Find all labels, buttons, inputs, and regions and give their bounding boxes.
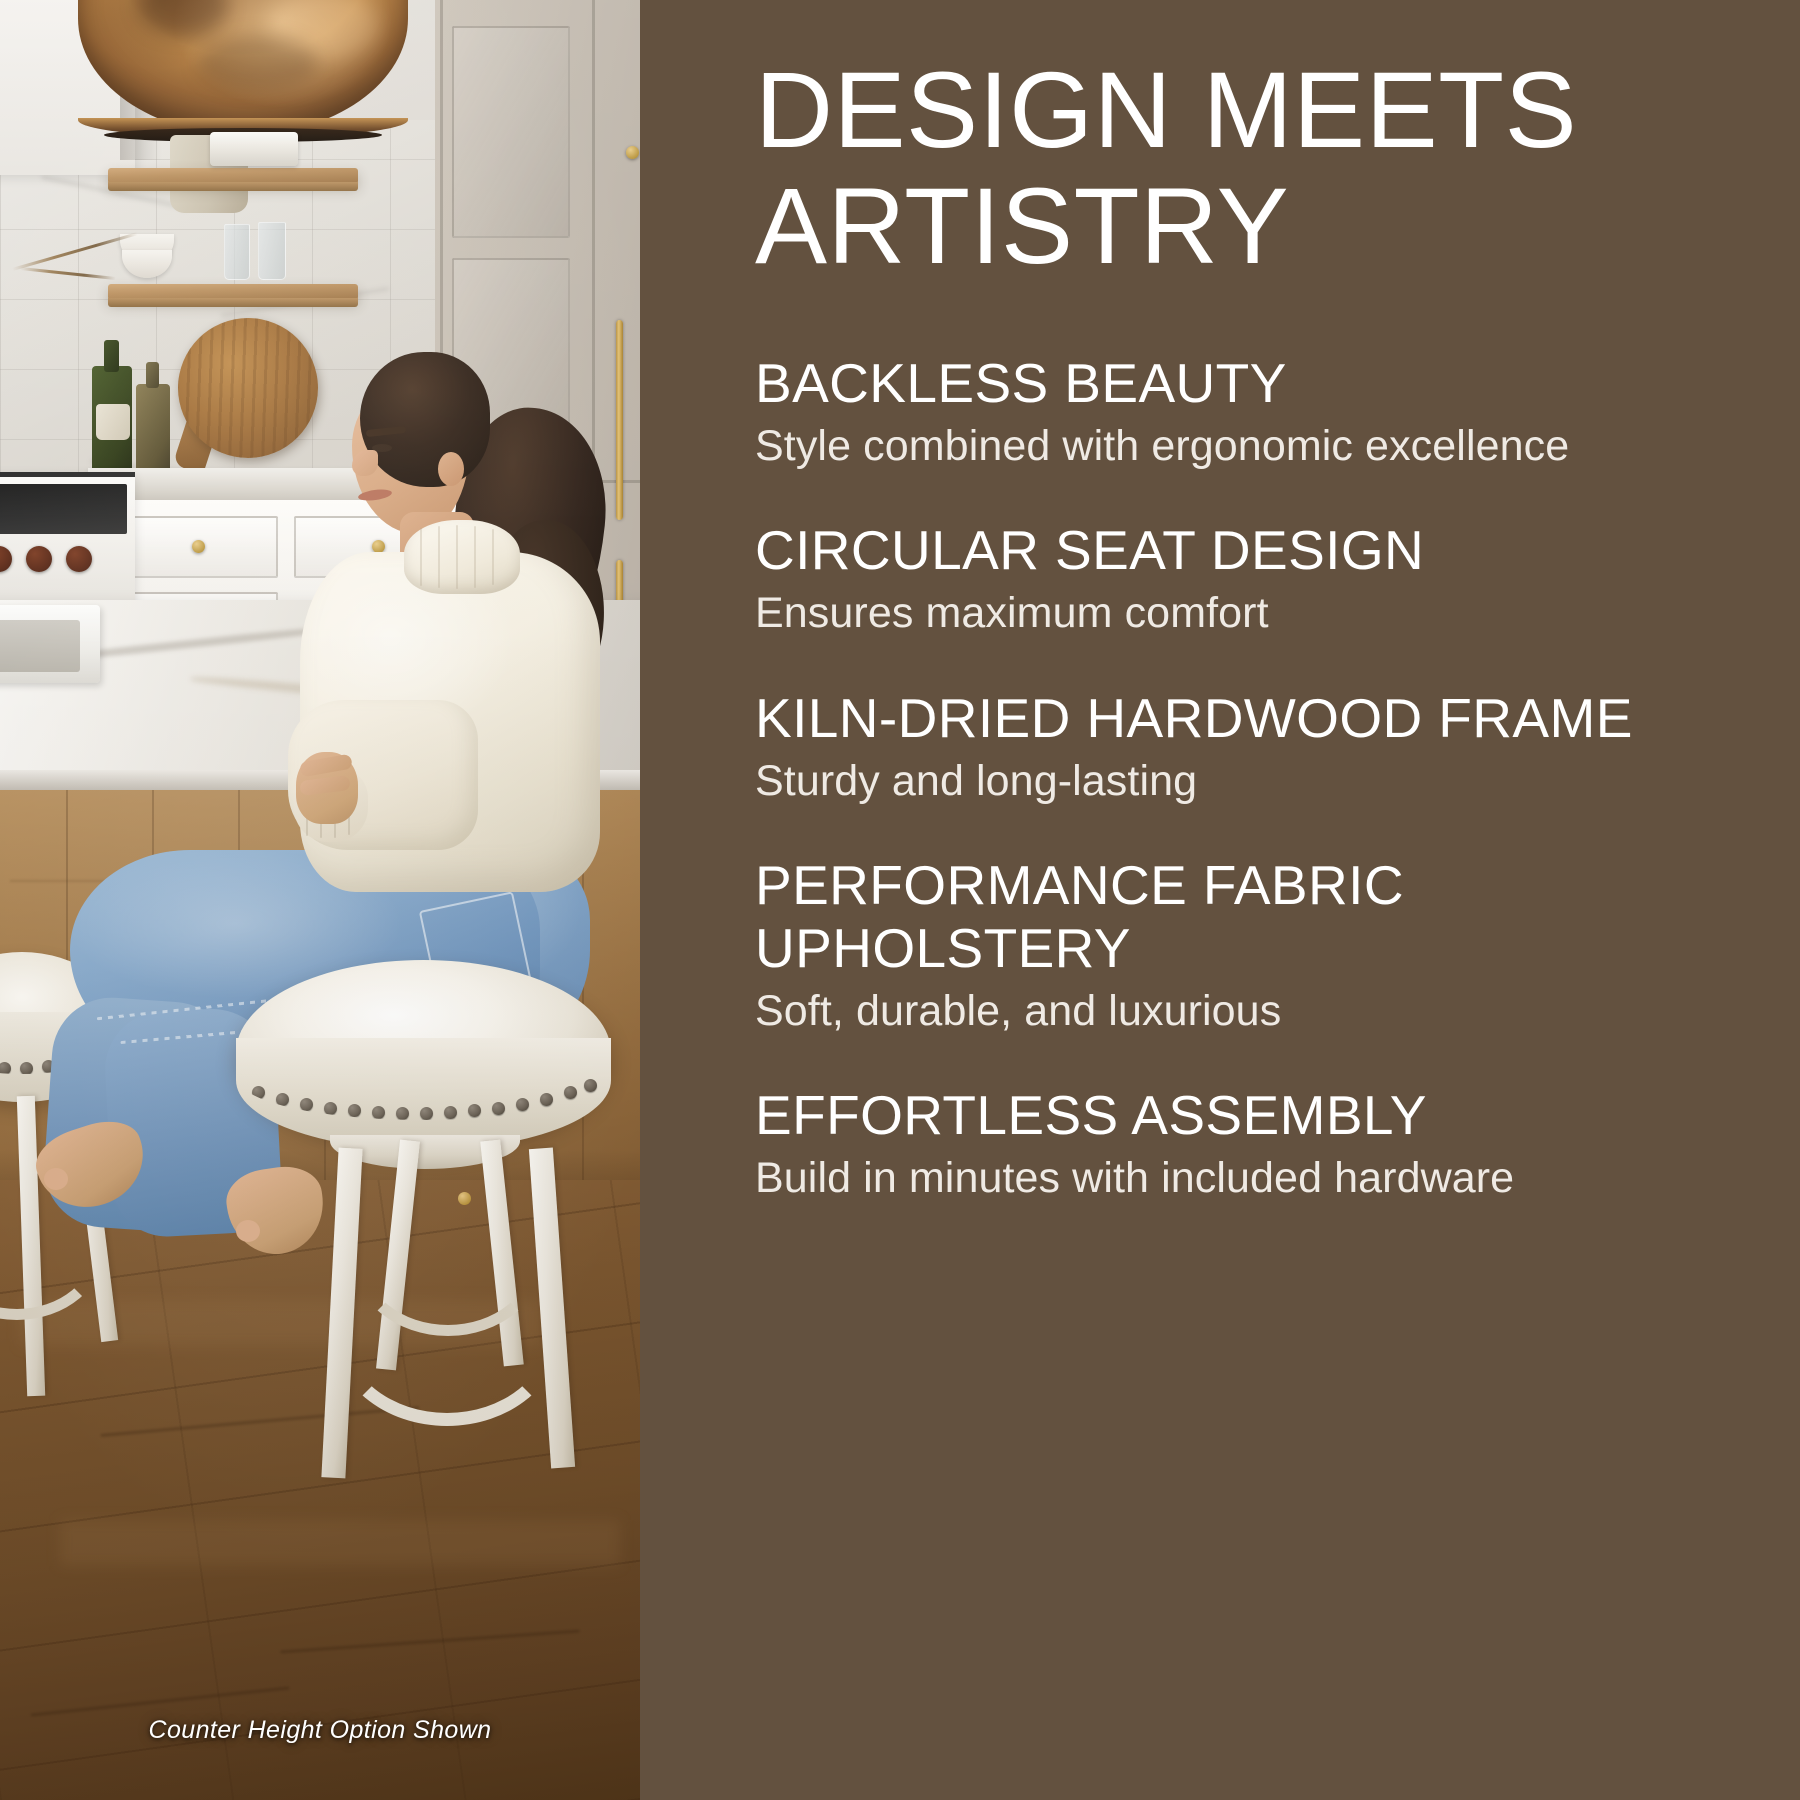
feature-item-circular-seat-design: CIRCULAR SEAT DESIGN Ensures maximum com…: [755, 519, 1765, 638]
oven-door-glass: [0, 484, 127, 534]
round-wooden-cutting-board: [178, 318, 318, 458]
bottle-label: [96, 404, 130, 440]
stool-upper-stretcher: [352, 1176, 544, 1336]
feature-title: EFFORTLESS ASSEMBLY: [755, 1084, 1765, 1147]
marketing-graphic: Counter Height Option Shown DESIGN MEETS…: [0, 0, 1800, 1800]
feature-description: Build in minutes with included hardware: [755, 1153, 1765, 1204]
turtleneck-collar: [404, 520, 520, 594]
bottle-neck: [146, 362, 159, 388]
shelf-edge: [108, 182, 358, 191]
drinking-glass: [224, 224, 250, 280]
hair-crown: [360, 352, 490, 487]
nose: [352, 450, 378, 476]
feature-item-performance-fabric-upholstery: PERFORMANCE FABRIC UPHOLSTERY Soft, dura…: [755, 854, 1765, 1036]
photo-caption: Counter Height Option Shown: [0, 1716, 640, 1745]
feature-title: KILN-DRIED HARDWOOD FRAME: [755, 687, 1765, 750]
ear: [438, 452, 464, 486]
brass-cabinet-handle: [616, 320, 623, 520]
feature-title: CIRCULAR SEAT DESIGN: [755, 519, 1765, 582]
headline-line-2: ARTISTRY: [755, 168, 1765, 284]
stacked-plates: [210, 132, 298, 166]
toes: [236, 1220, 260, 1242]
feature-description: Soft, durable, and luxurious: [755, 986, 1765, 1037]
sink-basin: [0, 620, 80, 672]
feature-description: Ensures maximum comfort: [755, 588, 1765, 639]
feature-description: Style combined with ergonomic excellence: [755, 421, 1765, 472]
feature-panel: DESIGN MEETS ARTISTRY BACKLESS BEAUTY St…: [640, 0, 1800, 1800]
shelf-edge: [108, 298, 358, 307]
range-knob: [66, 546, 92, 572]
feature-description: Sturdy and long-lasting: [755, 756, 1765, 807]
oil-bottle-secondary: [136, 384, 170, 480]
product-lifestyle-photo: Counter Height Option Shown: [0, 0, 640, 1800]
feature-item-backless-beauty: BACKLESS BEAUTY Style combined with ergo…: [755, 352, 1765, 471]
patina-mottle: [138, 0, 228, 36]
brass-cabinet-knob: [626, 146, 639, 159]
patina-mottle: [198, 36, 318, 90]
headline: DESIGN MEETS ARTISTRY: [755, 52, 1765, 283]
feature-list: BACKLESS BEAUTY Style combined with ergo…: [755, 352, 1765, 1252]
feature-item-kiln-dried-hardwood-frame: KILN-DRIED HARDWOOD FRAME Sturdy and lon…: [755, 687, 1765, 806]
bottle-neck: [104, 340, 119, 372]
brass-hardware-screw: [458, 1192, 471, 1205]
feature-title: BACKLESS BEAUTY: [755, 352, 1765, 415]
range-knob: [26, 546, 52, 572]
drinking-glass: [258, 222, 286, 280]
brass-drawer-knob: [192, 540, 205, 553]
toes: [44, 1168, 68, 1190]
feature-title: PERFORMANCE FABRIC UPHOLSTERY: [755, 854, 1765, 979]
plank-highlight: [60, 1520, 620, 1566]
cabinet-door-panel: [452, 26, 570, 238]
feature-item-effortless-assembly: EFFORTLESS ASSEMBLY Build in minutes wit…: [755, 1084, 1765, 1203]
headline-line-1: DESIGN MEETS: [755, 52, 1765, 168]
